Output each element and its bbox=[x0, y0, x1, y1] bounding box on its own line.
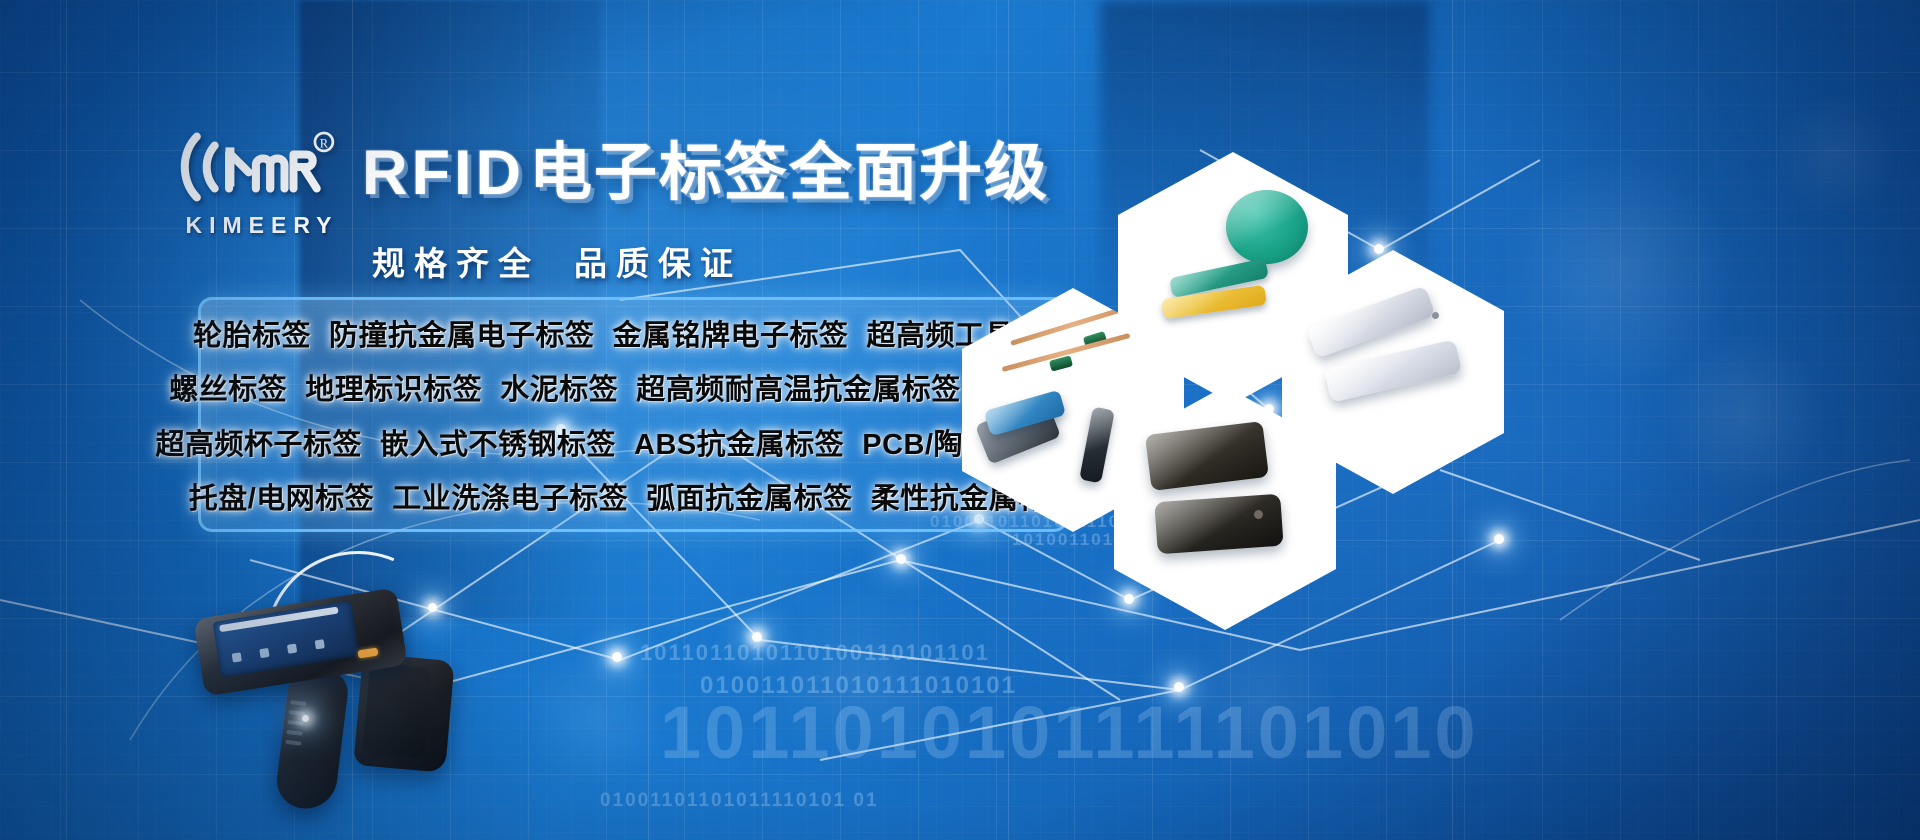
vignette-overlay bbox=[0, 0, 1920, 840]
rfid-promo-banner: 0100110110101111010101 10100110110101111… bbox=[0, 0, 1920, 840]
